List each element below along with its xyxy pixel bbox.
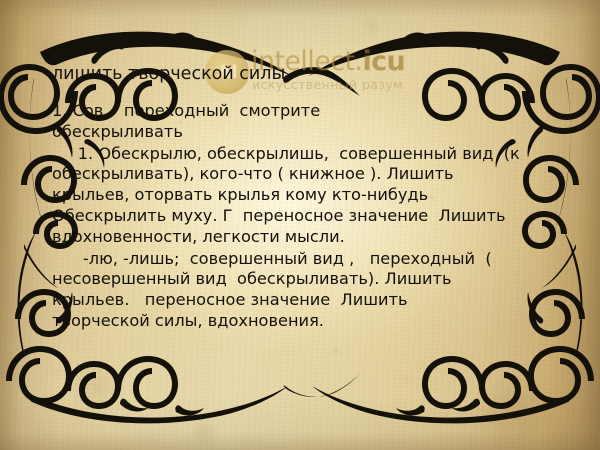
parchment-slide: AI intellect.icu искусственный разум лиш…: [0, 0, 600, 450]
entry-paragraph: -лю, -лишь; совершенный вид , переходный…: [52, 249, 557, 332]
entry-body: 1. Сов. переходный смотрите обескрыливат…: [52, 101, 557, 332]
entry-paragraph: 1. Сов. переходный смотрите обескрыливат…: [52, 101, 557, 143]
entry-headword: лишить творческой силы: [52, 64, 557, 86]
dictionary-entry: лишить творческой силы 1. Сов. переходны…: [52, 64, 557, 332]
entry-paragraph: 1. Обескрылю, обескрылишь, совершенный в…: [52, 144, 557, 248]
